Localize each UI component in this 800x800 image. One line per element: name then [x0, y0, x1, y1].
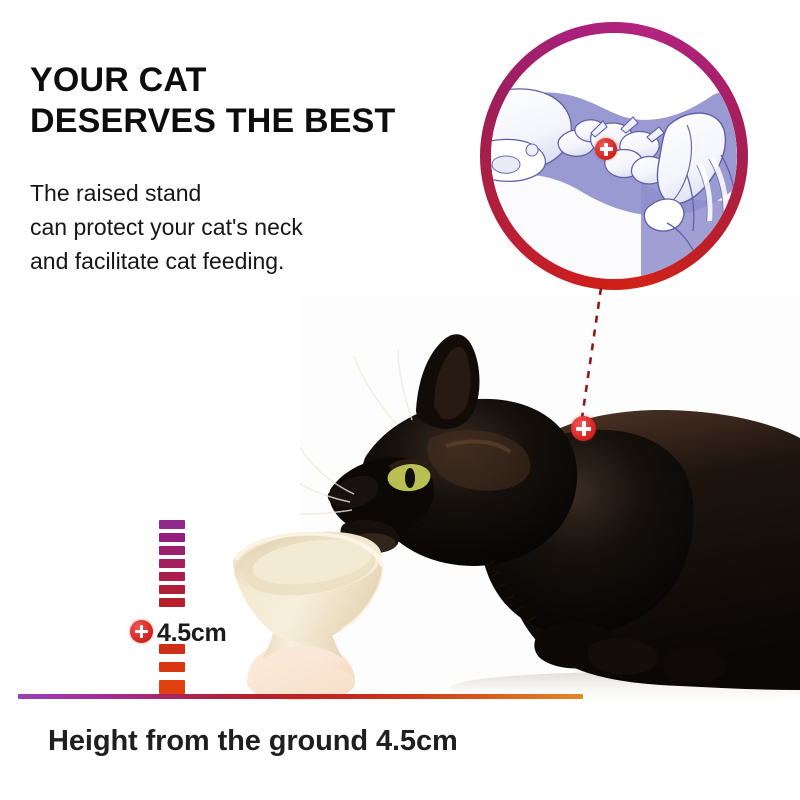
jaw-joint — [492, 156, 520, 173]
ruler-tick — [159, 533, 185, 542]
page-title: YOUR CAT DESERVES THE BEST — [30, 60, 490, 142]
tilted-raised-cat-bowl-illustration — [213, 506, 393, 704]
description-line-3: and facilitate cat feeding. — [30, 244, 430, 278]
product-infographic-canvas: YOUR CAT DESERVES THE BEST The raised st… — [0, 0, 800, 800]
measurement-plus-marker-icon — [130, 620, 153, 643]
raised-cat-bowl — [213, 506, 393, 704]
description-line-1: The raised stand — [30, 176, 430, 210]
height-ruler — [159, 520, 185, 700]
ruler-tick — [159, 520, 185, 529]
ruler-tick — [159, 585, 185, 594]
cat-pupil — [405, 468, 415, 488]
xray-plus-marker-icon — [595, 138, 617, 160]
headline-line-2: DESERVES THE BEST — [30, 101, 490, 142]
ruler-tick — [159, 598, 185, 607]
neck-plus-marker-icon — [571, 416, 596, 441]
ruler-tick — [159, 662, 185, 672]
ruler-tick — [159, 546, 185, 555]
ground-gradient-line — [18, 694, 583, 699]
plus-bar-vertical — [140, 625, 144, 639]
plus-bar-vertical — [604, 143, 608, 156]
bottom-caption: Height from the ground 4.5cm — [48, 725, 458, 758]
ruler-tick — [159, 680, 185, 694]
description-line-2: can protect your cat's neck — [30, 210, 430, 244]
ruler-tick — [159, 572, 185, 581]
headline-line-1: YOUR CAT — [30, 60, 490, 101]
cat-rear-paw — [662, 647, 726, 683]
skull-foramen — [526, 144, 538, 156]
plus-bar-vertical — [582, 421, 586, 436]
ruler-tick — [159, 559, 185, 568]
description-text: The raised stand can protect your cat's … — [30, 176, 430, 278]
